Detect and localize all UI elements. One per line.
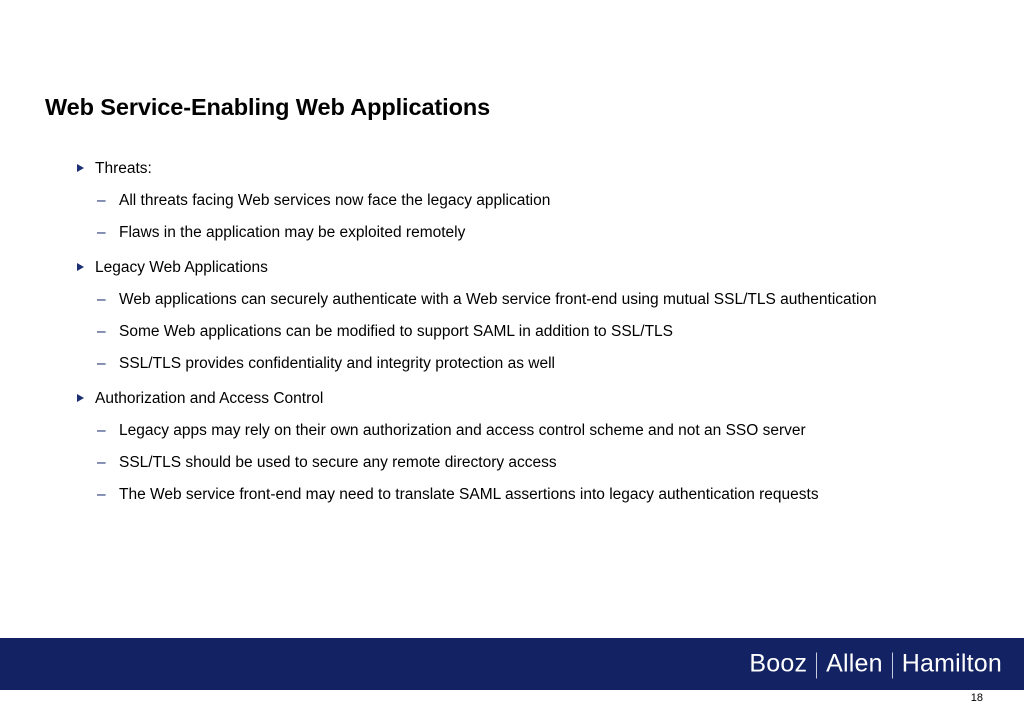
en-dash-icon: –	[97, 352, 106, 375]
bullet-group-authorization-access-control: Authorization and Access Control – Legac…	[76, 388, 976, 506]
slide-body: Threats: – All threats facing Web servic…	[76, 158, 976, 506]
logo-separator-icon	[816, 652, 817, 678]
bullet-heading: Threats:	[76, 158, 976, 180]
sub-bullet-item: – Legacy apps may rely on their own auth…	[76, 419, 976, 442]
bullet-group-threats: Threats: – All threats facing Web servic…	[76, 158, 976, 244]
sub-bullet-label: The Web service front-end may need to tr…	[119, 483, 976, 506]
en-dash-icon: –	[97, 288, 106, 311]
sub-bullet-label: SSL/TLS should be used to secure any rem…	[119, 451, 976, 474]
sub-bullet-item: – Flaws in the application may be exploi…	[76, 221, 976, 244]
sub-bullet-item: – SSL/TLS provides confidentiality and i…	[76, 352, 976, 375]
footer-bar: Booz Allen Hamilton	[0, 638, 1024, 690]
sub-bullet-label: SSL/TLS provides confidentiality and int…	[119, 352, 976, 375]
sub-bullet-label: Web applications can securely authentica…	[119, 288, 976, 311]
sub-bullet-item: – The Web service front-end may need to …	[76, 483, 976, 506]
sub-bullet-item: – All threats facing Web services now fa…	[76, 189, 976, 212]
sub-bullet-label: All threats facing Web services now face…	[119, 189, 976, 212]
booz-allen-hamilton-logo: Booz Allen Hamilton	[749, 650, 1002, 679]
sub-bullet-label: Flaws in the application may be exploite…	[119, 221, 976, 244]
en-dash-icon: –	[97, 483, 106, 506]
en-dash-icon: –	[97, 189, 106, 212]
page-number: 18	[971, 692, 983, 704]
page-title: Web Service-Enabling Web Applications	[45, 94, 490, 121]
bullet-heading: Legacy Web Applications	[76, 257, 976, 279]
en-dash-icon: –	[97, 451, 106, 474]
sub-bullet-item: – SSL/TLS should be used to secure any r…	[76, 451, 976, 474]
bullet-heading-label: Authorization and Access Control	[95, 390, 323, 407]
triangle-right-icon	[77, 263, 84, 271]
en-dash-icon: –	[97, 221, 106, 244]
en-dash-icon: –	[97, 419, 106, 442]
bullet-group-legacy-web-applications: Legacy Web Applications – Web applicatio…	[76, 257, 976, 375]
triangle-right-icon	[77, 164, 84, 172]
slide-canvas: Web Service-Enabling Web Applications Th…	[0, 0, 1024, 709]
triangle-right-icon	[77, 394, 84, 402]
bullet-heading: Authorization and Access Control	[76, 388, 976, 410]
sub-bullet-item: – Some Web applications can be modified …	[76, 320, 976, 343]
logo-separator-icon	[892, 652, 893, 678]
en-dash-icon: –	[97, 320, 106, 343]
bullet-heading-label: Legacy Web Applications	[95, 259, 268, 276]
bullet-heading-label: Threats:	[95, 160, 152, 177]
logo-word-booz: Booz	[749, 650, 807, 679]
logo-word-allen: Allen	[826, 650, 883, 679]
sub-bullet-label: Some Web applications can be modified to…	[119, 320, 976, 343]
logo-word-hamilton: Hamilton	[902, 650, 1002, 679]
sub-bullet-item: – Web applications can securely authenti…	[76, 288, 976, 311]
sub-bullet-label: Legacy apps may rely on their own author…	[119, 419, 976, 442]
